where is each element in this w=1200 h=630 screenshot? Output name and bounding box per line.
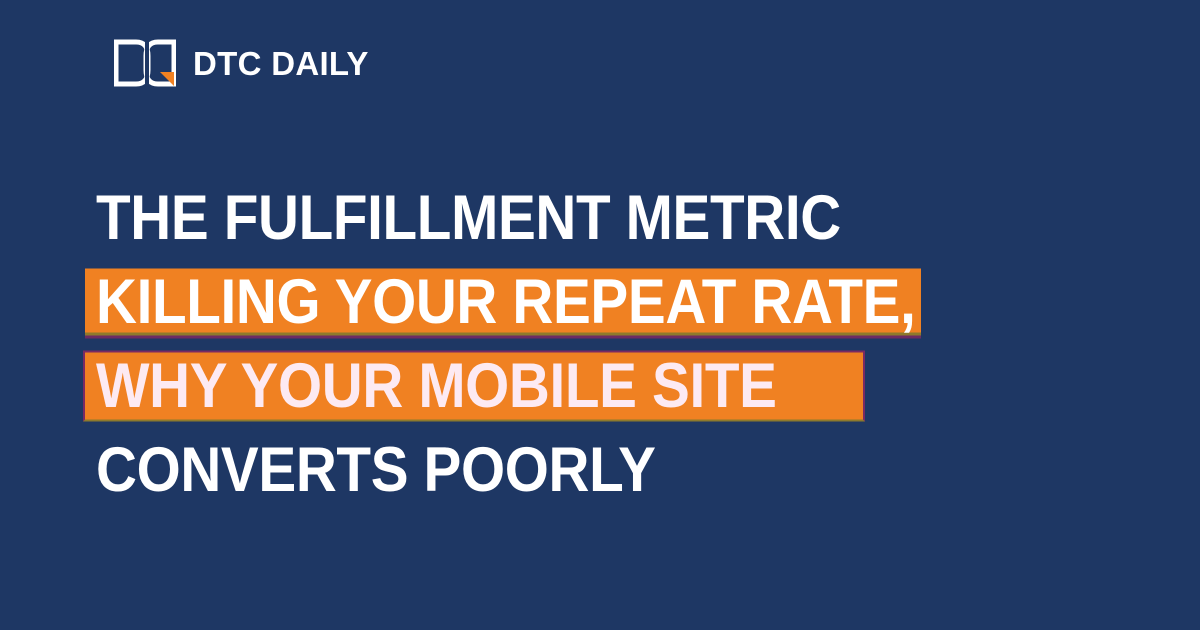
headline-line: KILLING YOUR REPEAT RATE, — [96, 260, 1156, 344]
brand-wordmark: DTC DAILY — [193, 47, 369, 80]
headline-line: WHY YOUR MOBILE SITE — [96, 344, 1156, 428]
headline-line: CONVERTS POORLY — [96, 428, 1156, 512]
headline: THE FULFILLMENT METRIC KILLING YOUR REPE… — [96, 176, 1156, 512]
brand-lockup[interactable]: DTC DAILY — [114, 36, 369, 90]
headline-line-text: CONVERTS POORLY — [96, 439, 656, 502]
headline-line-text: THE FULFILLMENT METRIC — [96, 187, 841, 250]
headline-line-text: WHY YOUR MOBILE SITE — [96, 355, 777, 418]
headline-line: THE FULFILLMENT METRIC — [96, 176, 1156, 260]
open-book-monogram-icon — [114, 36, 176, 90]
headline-line-text: KILLING YOUR REPEAT RATE, — [96, 271, 915, 334]
